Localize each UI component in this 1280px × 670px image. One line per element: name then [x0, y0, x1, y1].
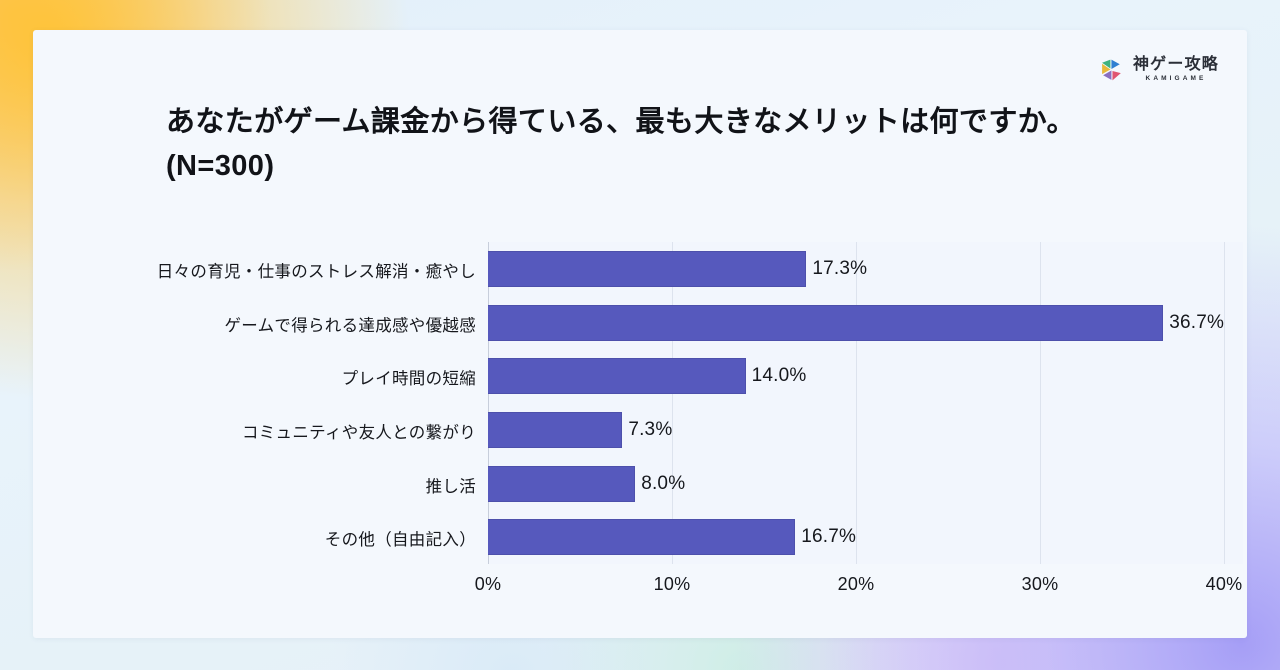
bar-row: 36.7% — [488, 305, 1243, 341]
gridline-10 — [672, 242, 673, 564]
bar — [488, 358, 746, 394]
chart-card: 神ゲー攻略 KAMIGAME あなたがゲーム課金から得ている、最も大きなメリット… — [33, 30, 1247, 638]
category-label: プレイ時間の短縮 — [76, 365, 476, 389]
bar — [488, 466, 635, 502]
bar-value-label: 17.3% — [812, 258, 867, 280]
bar-value-label: 16.7% — [801, 526, 856, 548]
page-title: あなたがゲーム課金から得ている、最も大きなメリットは何ですか。 (N=300) — [166, 100, 1176, 188]
gridline-30 — [1040, 242, 1041, 564]
gridline-20 — [856, 242, 857, 564]
logo-jp-text: 神ゲー攻略 — [1133, 57, 1219, 73]
bar — [488, 519, 795, 555]
chart-title-line-2: (N=300) — [166, 144, 1176, 188]
bar-value-label: 8.0% — [641, 473, 685, 495]
x-tick-label: 10% — [654, 574, 691, 595]
bar-value-label: 14.0% — [752, 365, 807, 387]
category-label: 推し活 — [76, 473, 476, 497]
bar — [488, 251, 806, 287]
plot-canvas — [488, 242, 1243, 564]
category-label: その他（自由記入） — [76, 526, 476, 550]
x-tick-label: 20% — [838, 574, 875, 595]
kamigame-logo[interactable]: 神ゲー攻略 KAMIGAME — [1100, 57, 1219, 83]
bar-row: 7.3% — [488, 412, 1243, 448]
x-tick-label: 40% — [1206, 574, 1243, 595]
bar — [488, 412, 622, 448]
bar-row: 14.0% — [488, 358, 1243, 394]
category-label: ゲームで得られる達成感や優越感 — [76, 312, 476, 336]
kamigame-logo-mark — [1100, 57, 1126, 83]
bar-row: 8.0% — [488, 466, 1243, 502]
category-label: コミュニティや友人との繋がり — [76, 419, 476, 443]
bar — [488, 305, 1163, 341]
gridline-40 — [1224, 242, 1225, 564]
category-label: 日々の育児・仕事のストレス解消・癒やし — [76, 258, 476, 282]
bar-value-label: 7.3% — [628, 419, 672, 441]
chart-title-line-1: あなたがゲーム課金から得ている、最も大きなメリットは何ですか。 — [166, 100, 1176, 144]
bar-row: 17.3% — [488, 251, 1243, 287]
bar-chart: 日々の育児・仕事のストレス解消・癒やしゲームで得られる達成感や優越感プレイ時間の… — [66, 220, 1247, 632]
bar-row: 16.7% — [488, 519, 1243, 555]
kamigame-logo-text: 神ゲー攻略 KAMIGAME — [1133, 57, 1219, 83]
bar-value-label: 36.7% — [1169, 312, 1224, 334]
category-axis-labels: 日々の育児・仕事のストレス解消・癒やしゲームで得られる達成感や優越感プレイ時間の… — [66, 242, 476, 564]
x-tick-label: 30% — [1022, 574, 1059, 595]
x-tick-label: 0% — [475, 574, 501, 595]
logo-en-text: KAMIGAME — [1146, 76, 1207, 83]
gridline-0 — [488, 242, 489, 564]
plot-area: 17.3%36.7%14.0%7.3%8.0%16.7%0%10%20%30%4… — [488, 242, 1243, 592]
